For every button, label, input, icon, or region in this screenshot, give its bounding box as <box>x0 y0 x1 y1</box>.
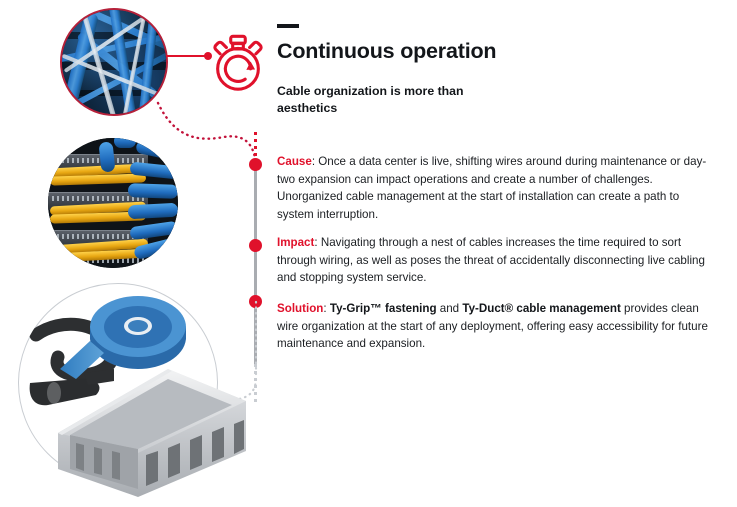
timeline-label-cause: Cause <box>277 155 312 168</box>
timeline-node-cause <box>249 158 262 171</box>
timeline-item-solution: Solution: Ty-Grip™ fastening and Ty-Duct… <box>277 300 717 353</box>
timeline-node-solution <box>249 295 262 308</box>
product-name-ty-grip: Ty-Grip™ fastening <box>330 302 437 315</box>
timeline-rail-dotted-bottom <box>254 364 257 406</box>
timeline-solution-mid: and <box>437 302 463 315</box>
timeline-item-cause: Cause: Once a data center is live, shift… <box>277 153 717 223</box>
connector-red-line <box>166 55 208 57</box>
content-column: Continuous operation Cable organization … <box>277 24 717 118</box>
timeline-label-solution: Solution <box>277 302 323 315</box>
circle-patch-panel <box>48 138 178 268</box>
timeline-node-impact <box>249 239 262 252</box>
page-subtitle: Cable organization is more than aestheti… <box>277 83 477 118</box>
timeline-rail <box>254 164 257 364</box>
timeline-body-impact: Navigating through a nest of cables incr… <box>277 236 705 284</box>
page-title: Continuous operation <box>277 39 717 64</box>
circle-cables-blue <box>60 8 168 116</box>
timeline <box>249 118 263 458</box>
timeline-label-impact: Impact <box>277 236 314 249</box>
circle-products <box>18 283 248 498</box>
product-name-ty-duct: Ty-Duct® cable management <box>462 302 620 315</box>
timeline-body-cause: Once a data center is live, shifting wir… <box>277 155 706 221</box>
timeline-item-impact: Impact: Navigating through a nest of cab… <box>277 234 717 287</box>
infographic-canvas: Continuous operation Cable organization … <box>0 0 737 507</box>
stopwatch-refresh-icon <box>207 32 269 94</box>
title-rule <box>277 24 299 28</box>
